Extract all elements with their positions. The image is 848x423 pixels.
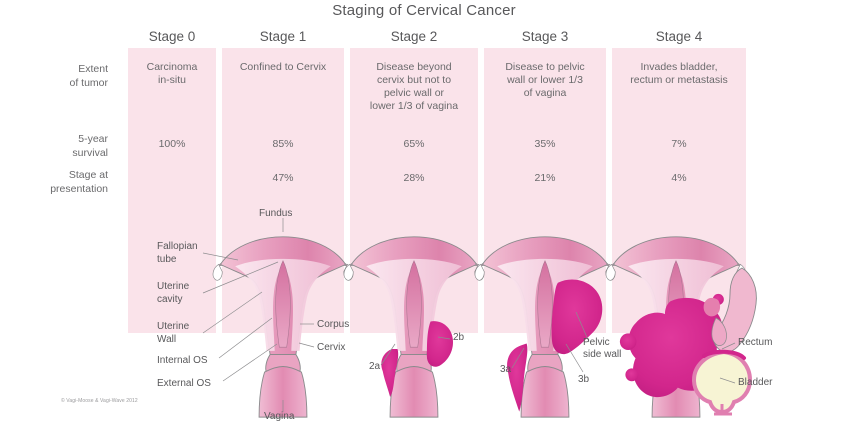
label-bladder: Bladder <box>738 376 772 389</box>
label-tumor-3b: 3b <box>578 373 589 386</box>
label-corpus: Corpus <box>317 318 349 331</box>
diagram-root: Staging of Cervical Cancer Stage 0 Stage… <box>0 0 848 420</box>
tumor-nodule <box>625 368 638 381</box>
label-rectum: Rectum <box>738 336 772 349</box>
label-cervix: Cervix <box>317 341 345 354</box>
label-fundus: Fundus <box>259 207 292 220</box>
label-uterine-cavity: Uterine cavity <box>157 280 189 306</box>
copyright-notice: © Vagi-Moose & Vagi-Wave 2012 <box>61 398 138 404</box>
label-tumor-2a: 2a <box>369 360 380 373</box>
label-internal-os: Internal OS <box>157 354 208 367</box>
leader-cervix <box>299 343 314 347</box>
label-tumor-3a: 3a <box>500 363 511 376</box>
tumor-nodule <box>620 333 637 350</box>
label-vagina: Vagina <box>264 410 294 423</box>
leader-uterine-wall <box>203 292 262 333</box>
tumor-2b <box>427 321 453 367</box>
label-tumor-2b: 2b <box>453 331 464 344</box>
label-uterine-wall: Uterine Wall <box>157 320 189 346</box>
label-external-os: External OS <box>157 377 211 390</box>
uterus-stage-2 <box>344 237 484 417</box>
label-fallopian-tube: Fallopian tube <box>157 240 198 266</box>
leader-internal-os <box>219 318 272 358</box>
anatomy-illustration-layer <box>0 0 848 420</box>
label-pelvic-side-wall: Pelvic side wall <box>583 337 621 361</box>
uterus-stage-3 <box>475 237 615 417</box>
